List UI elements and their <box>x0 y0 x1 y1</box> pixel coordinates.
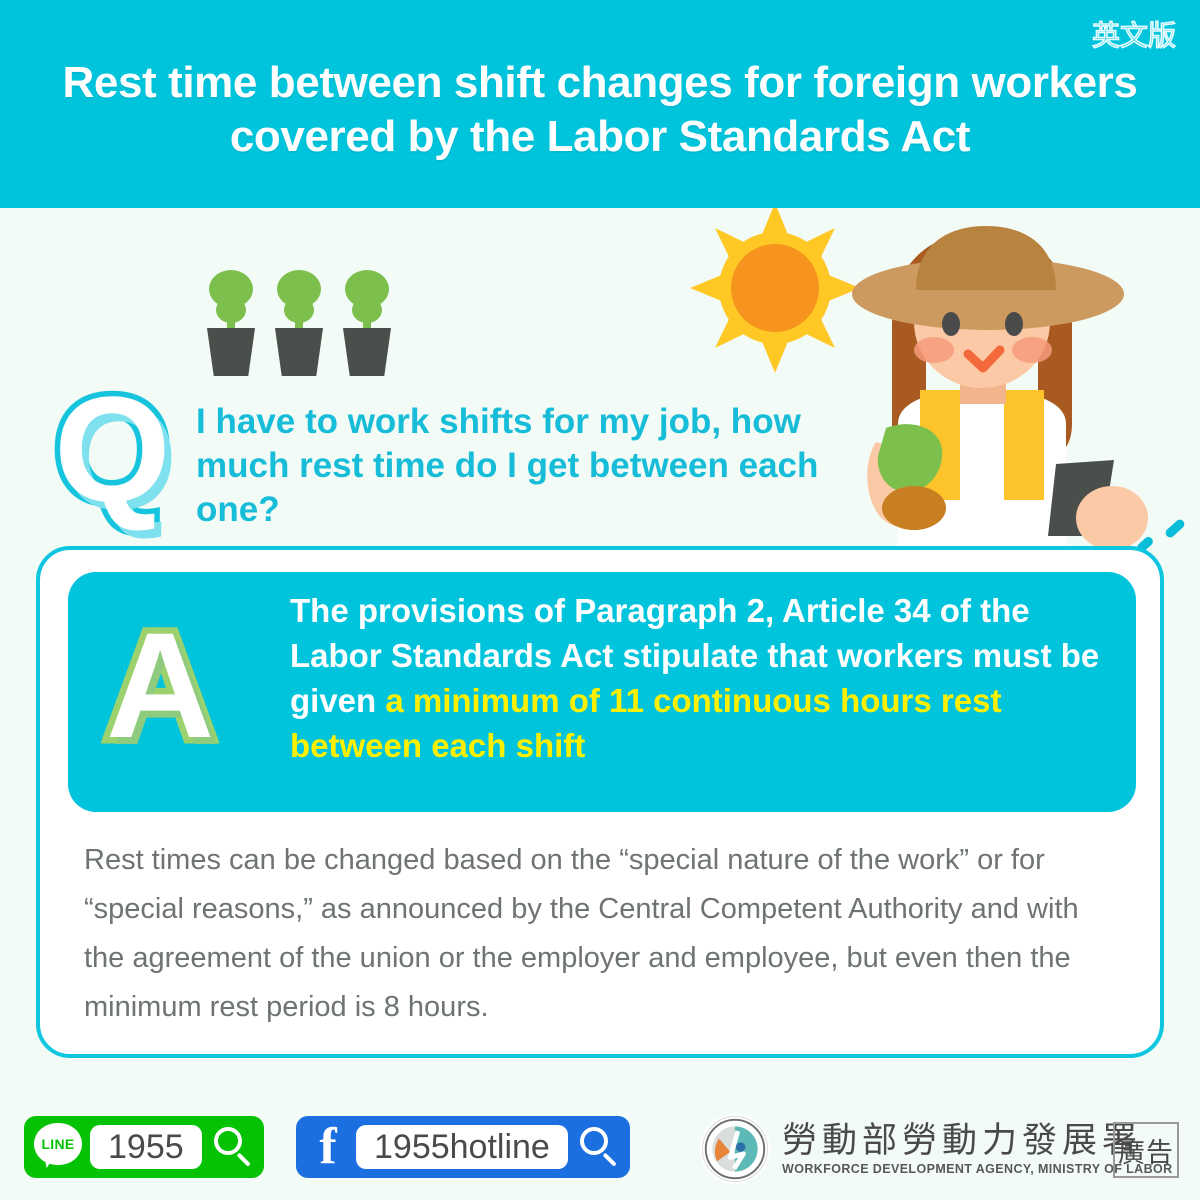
line-badge[interactable]: LINE 1955 <box>24 1116 264 1178</box>
language-badge: 英文版 <box>1092 20 1176 52</box>
agency-block: 勞動部勞動力發展署 WORKFORCE DEVELOPMENT AGENCY, … <box>700 1114 1173 1184</box>
potted-plant-icon <box>341 270 393 376</box>
magnifier-icon[interactable] <box>212 1126 254 1168</box>
answer-text-highlight: a minimum of 11 continuous hours rest be… <box>290 682 1001 764</box>
facebook-page-value: 1955hotline <box>356 1125 568 1169</box>
farmer-character-illustration <box>820 214 1180 558</box>
line-logo-icon: LINE <box>34 1123 82 1171</box>
question-letter: Q <box>54 374 171 524</box>
header-bar: 英文版 Rest time between shift changes for … <box>0 0 1200 208</box>
facebook-logo-icon: f <box>306 1122 350 1172</box>
facebook-badge[interactable]: f 1955hotline <box>296 1116 630 1178</box>
page-title: Rest time between shift changes for fore… <box>0 56 1200 164</box>
question-block: Q I have to work shifts for my job, how … <box>48 382 848 532</box>
answer-text: The provisions of Paragraph 2, Article 3… <box>290 588 1120 768</box>
line-logo-label: LINE <box>34 1123 82 1165</box>
footer-bar: LINE 1955 f 1955hotline <box>0 1098 1200 1200</box>
line-id-value: 1955 <box>90 1125 202 1169</box>
note-text: Rest times can be changed based on the “… <box>84 836 1120 1032</box>
ad-label-box: 廣告 <box>1113 1122 1179 1178</box>
potted-plants-group <box>205 270 405 380</box>
potted-plant-icon <box>273 270 325 376</box>
agency-seal-icon <box>700 1114 770 1184</box>
infographic-root: 英文版 Rest time between shift changes for … <box>0 0 1200 1200</box>
answer-letter: A <box>106 610 214 760</box>
potted-plant-icon <box>205 270 257 376</box>
answer-card: A The provisions of Paragraph 2, Article… <box>36 546 1164 1058</box>
answer-box: A The provisions of Paragraph 2, Article… <box>68 572 1136 812</box>
magnifier-icon[interactable] <box>578 1126 620 1168</box>
question-text: I have to work shifts for my job, how mu… <box>196 400 846 532</box>
